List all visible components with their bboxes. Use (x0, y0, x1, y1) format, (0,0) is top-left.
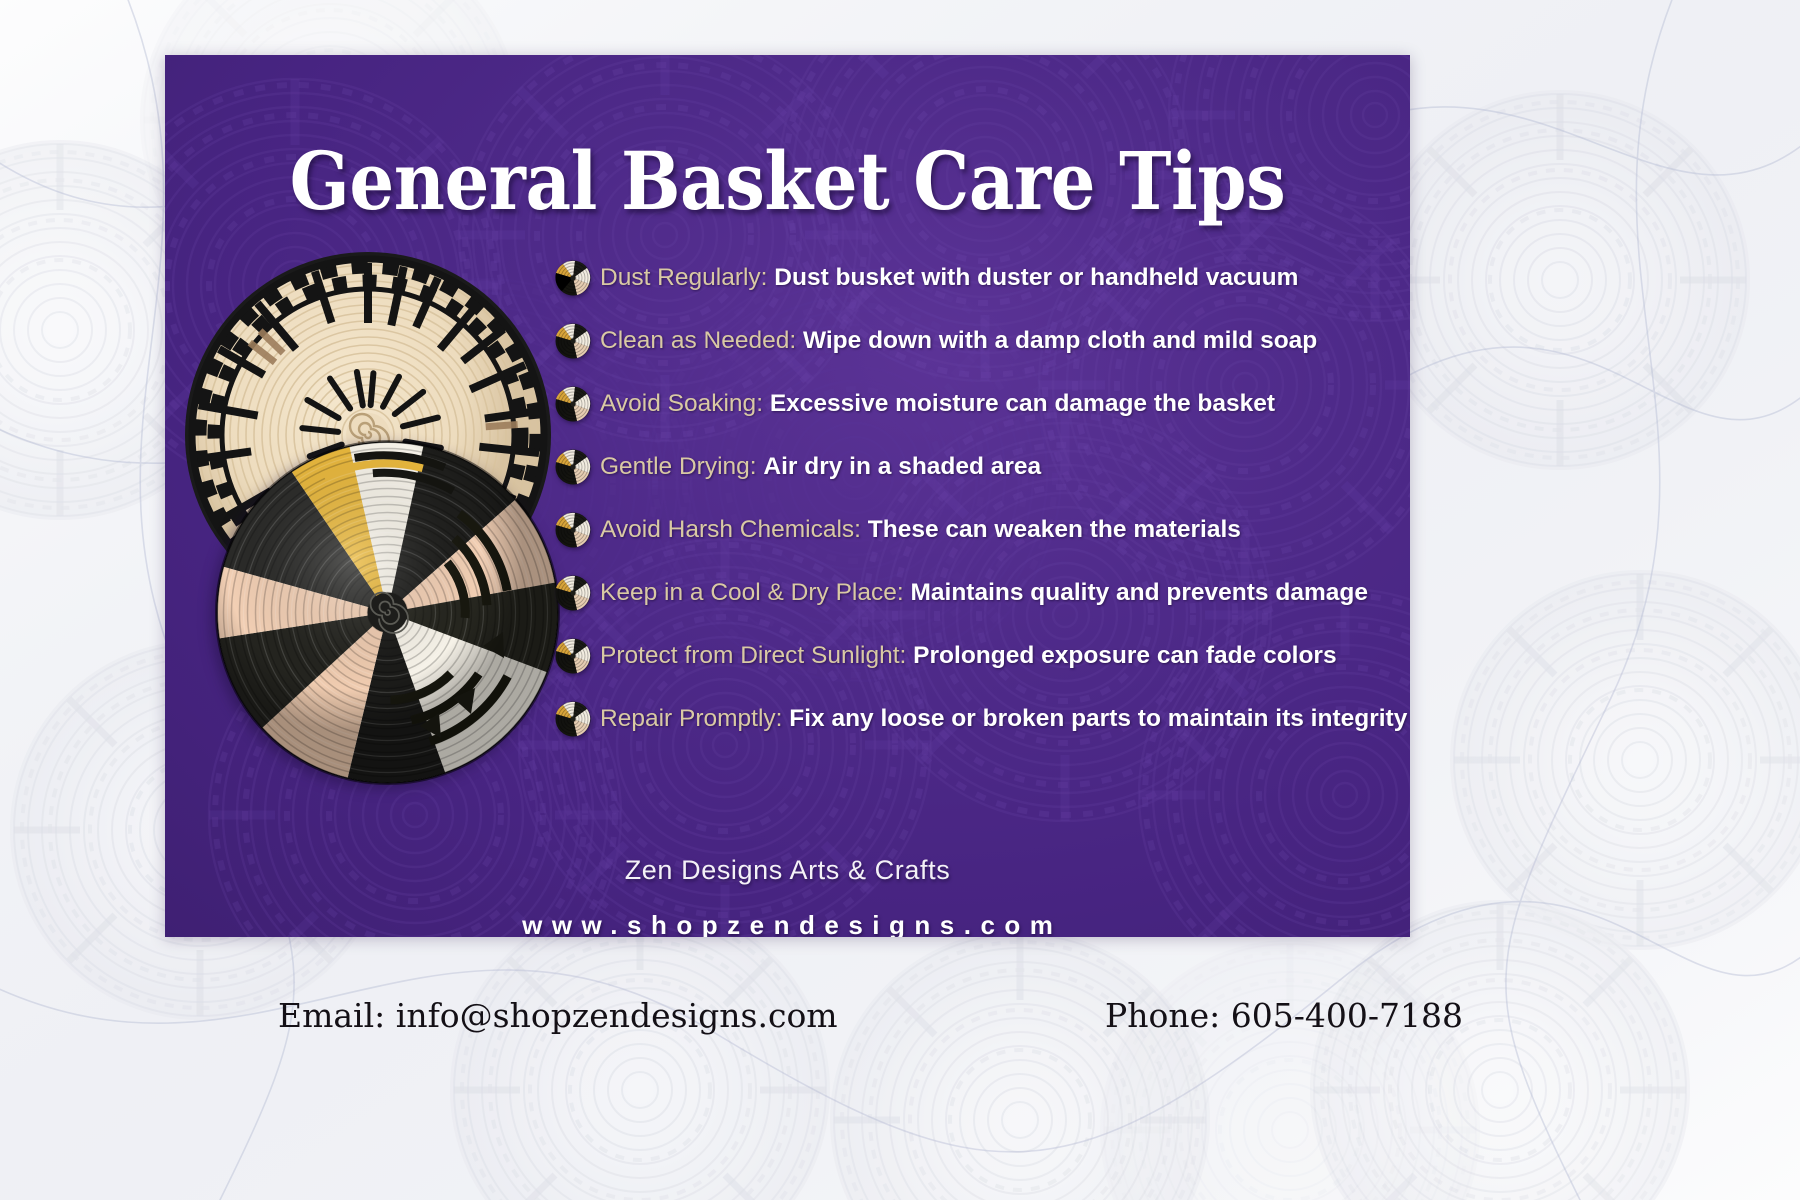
tip-label: Keep in a Cool & Dry Place: (600, 579, 911, 606)
tip-description: Maintains quality and prevents damage (911, 579, 1368, 606)
basket-bullet-icon (555, 449, 591, 485)
contact-email[interactable]: Email: info@shopzendesigns.com (278, 996, 838, 1035)
tip-description: Dust busket with duster or handheld vacu… (774, 264, 1298, 291)
list-item: Repair Promptly: Fix any loose or broken… (555, 701, 1385, 737)
basket-bullet-icon (555, 701, 591, 737)
list-item: Keep in a Cool & Dry Place: Maintains qu… (555, 575, 1385, 611)
tip-label: Clean as Needed: (600, 327, 803, 354)
basket-image-front (215, 440, 560, 785)
basket-bullet-icon (555, 386, 591, 422)
basket-bullet-icon (555, 512, 591, 548)
list-item: Dust Regularly: Dust busket with duster … (555, 260, 1385, 296)
page-title: General Basket Care Tips (240, 141, 1336, 221)
list-item: Protect from Direct Sunlight: Prolonged … (555, 638, 1385, 674)
tips-list: Dust Regularly: Dust busket with duster … (555, 260, 1385, 764)
tip-label: Avoid Soaking: (600, 390, 770, 417)
list-item: Gentle Drying: Air dry in a shaded area (555, 449, 1385, 485)
basket-bullet-icon (555, 638, 591, 674)
basket-images (175, 250, 575, 810)
tip-label: Avoid Harsh Chemicals: (600, 516, 868, 543)
tip-label: Repair Promptly: (600, 705, 789, 732)
poster-card: General Basket Care Tips (165, 55, 1410, 937)
tip-label: Dust Regularly: (600, 264, 774, 291)
list-item: Avoid Soaking: Excessive moisture can da… (555, 386, 1385, 422)
tip-description: Fix any loose or broken parts to maintai… (789, 705, 1407, 732)
basket-bullet-icon (555, 323, 591, 359)
list-item: Clean as Needed: Wipe down with a damp c… (555, 323, 1385, 359)
website-url[interactable]: www.shopzendesigns.com (165, 910, 1410, 937)
tip-label: Protect from Direct Sunlight: (600, 642, 913, 669)
basket-bullet-icon (555, 260, 591, 296)
tip-description: Prolonged exposure can fade colors (913, 642, 1336, 669)
tip-description: These can weaken the materials (868, 516, 1241, 543)
contact-phone[interactable]: Phone: 605-400-7188 (1105, 996, 1463, 1035)
basket-bullet-icon (555, 575, 591, 611)
tip-description: Wipe down with a damp cloth and mild soa… (803, 327, 1317, 354)
tip-description: Air dry in a shaded area (763, 453, 1041, 480)
list-item: Avoid Harsh Chemicals: These can weaken … (555, 512, 1385, 548)
tip-label: Gentle Drying: (600, 453, 763, 480)
contact-strip: Email: info@shopzendesigns.com Phone: 60… (0, 960, 1800, 1070)
brand-name: Zen Designs Arts & Crafts (165, 855, 1410, 886)
tip-description: Excessive moisture can damage the basket (770, 390, 1275, 417)
